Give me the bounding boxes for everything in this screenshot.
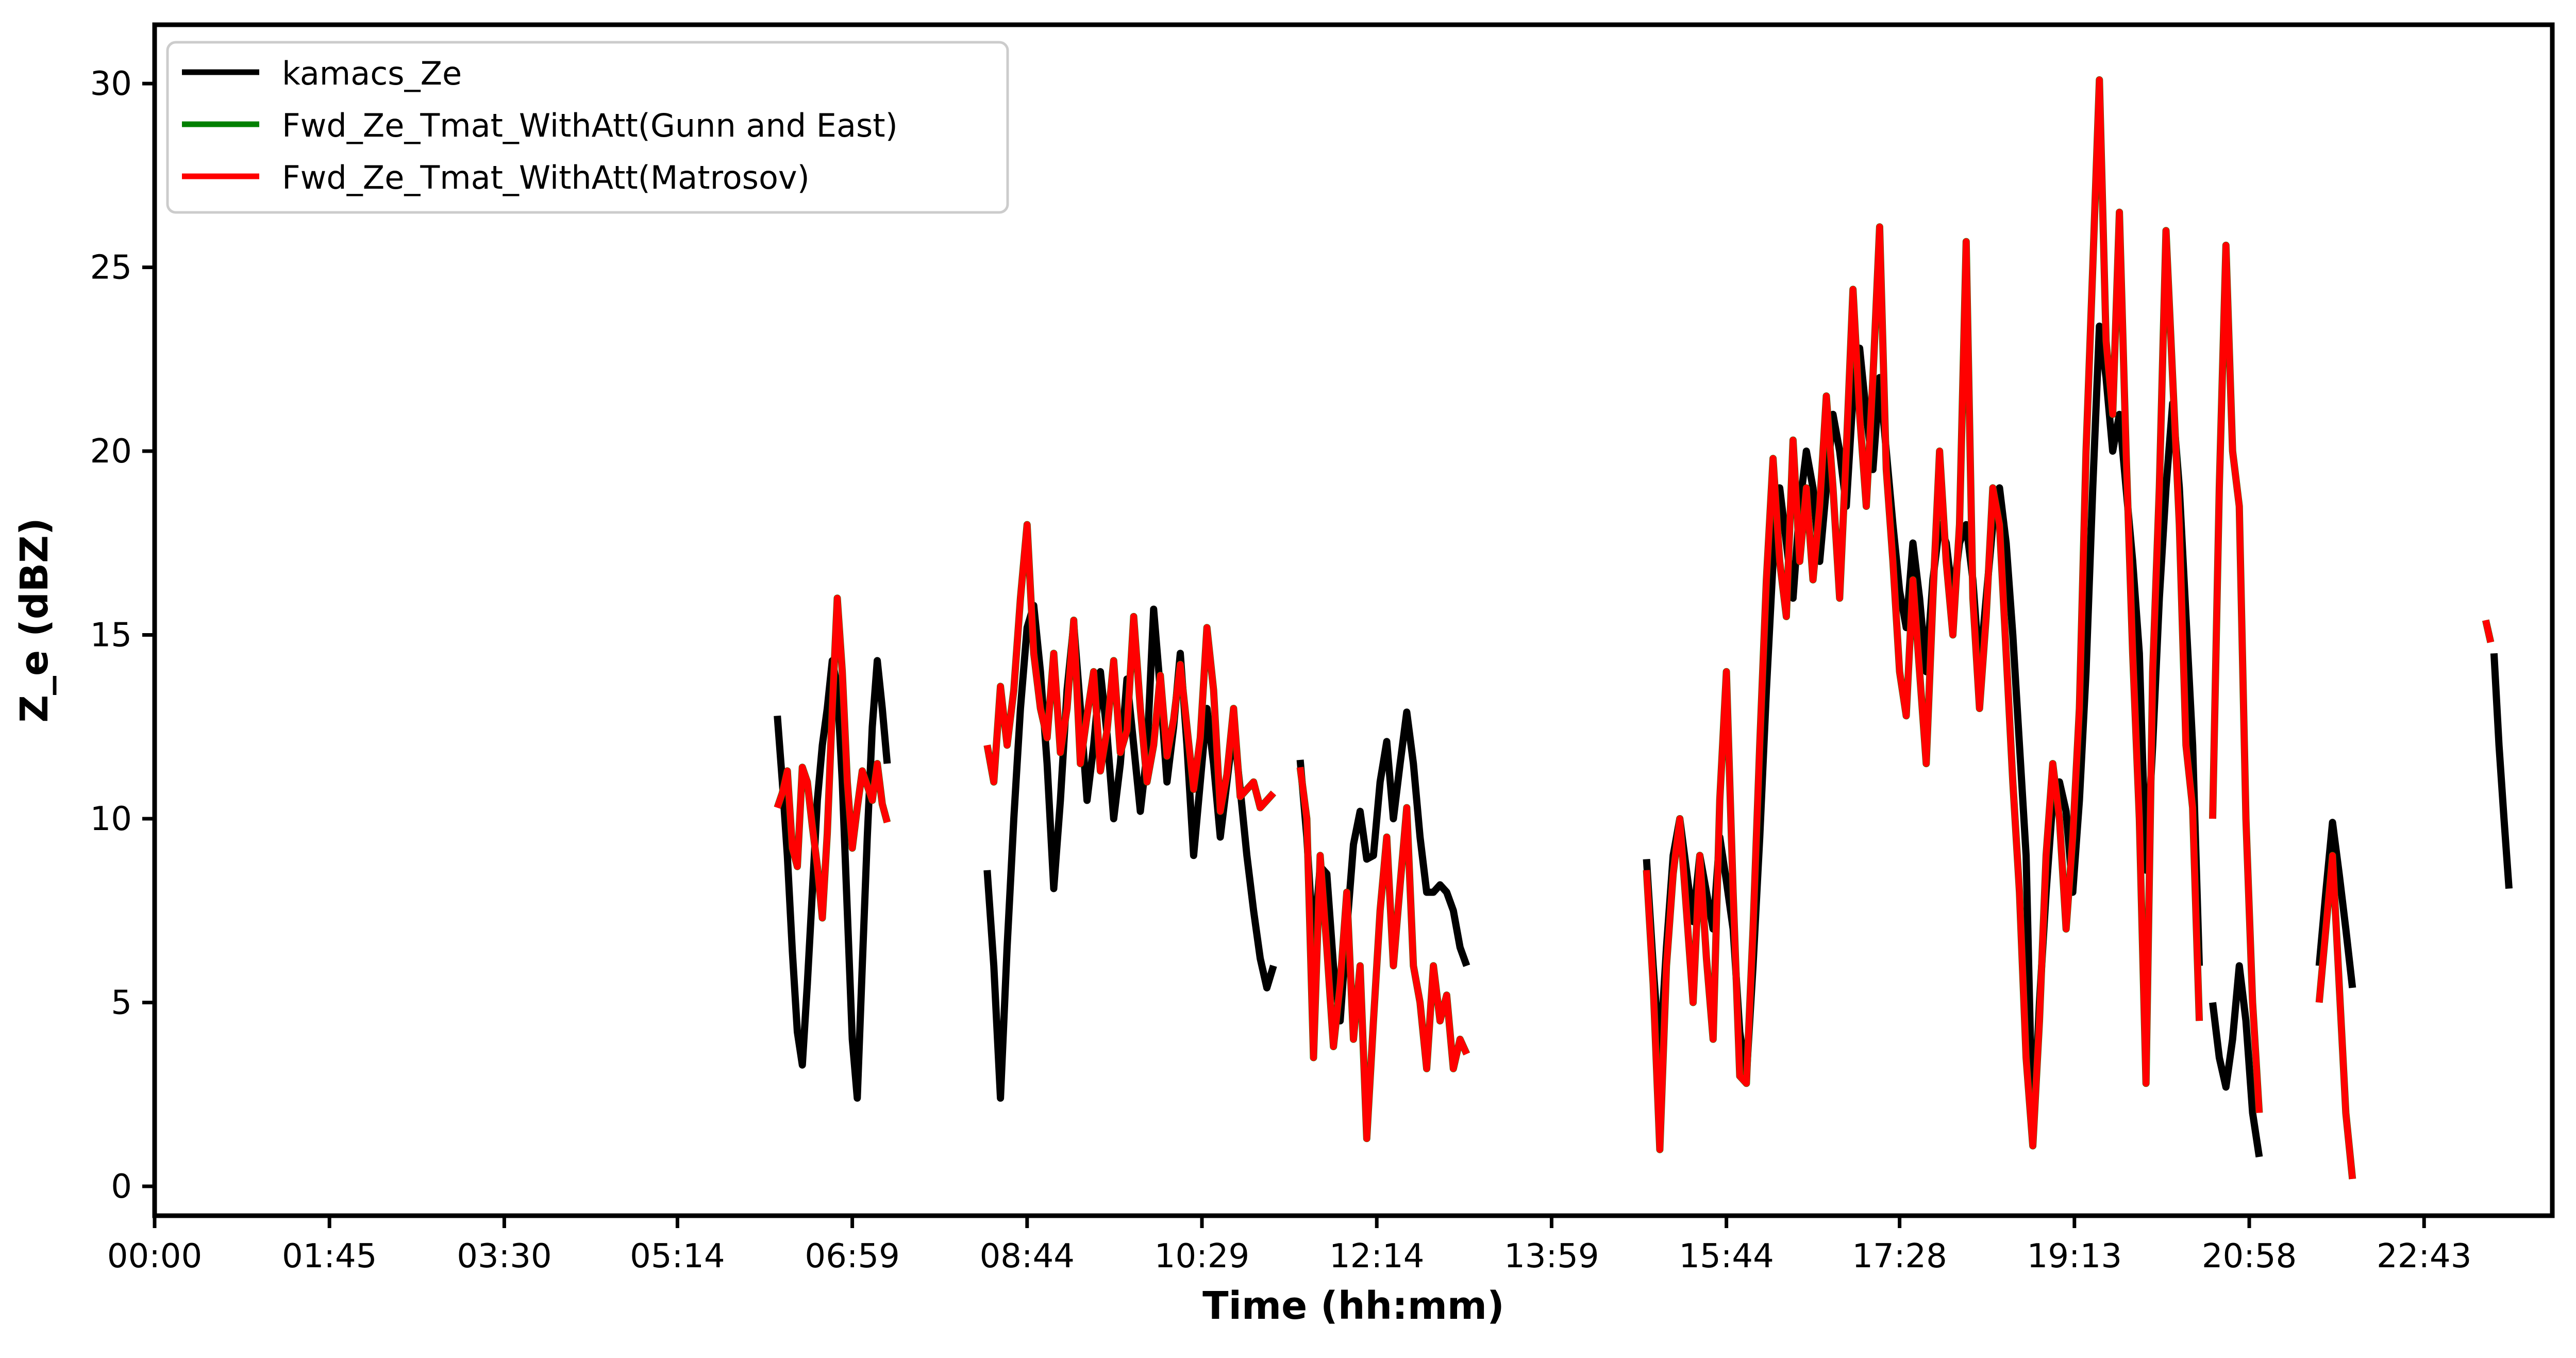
y-tick-label-6: 30: [90, 65, 132, 103]
series-2-segment-1: [987, 525, 1274, 812]
legend-label-0: kamacs_Ze: [282, 55, 462, 92]
x-tick-label-6: 10:29: [1155, 1237, 1249, 1276]
x-tick-label-12: 20:58: [2202, 1237, 2297, 1276]
x-tick-label-3: 05:14: [630, 1237, 725, 1276]
ticks-layer: 00:0001:4503:3005:1406:5908:4410:2912:14…: [90, 65, 2472, 1276]
x-tick-label-8: 13:59: [1504, 1237, 1599, 1276]
x-tick-label-10: 17:28: [1852, 1237, 1947, 1276]
x-tick-label-0: 00:00: [107, 1237, 202, 1276]
figure-canvas: 00:0001:4503:3005:1406:5908:4410:2912:14…: [0, 0, 2576, 1358]
line-chart[interactable]: 00:0001:4503:3005:1406:5908:4410:2912:14…: [0, 0, 2576, 1358]
x-tick-label-5: 08:44: [980, 1237, 1075, 1276]
y-tick-label-3: 15: [90, 617, 132, 655]
legend-item-1[interactable]: Fwd_Ze_Tmat_WithAtt(Gunn and East): [182, 107, 898, 144]
axis-titles-layer: Time (hh:mm)Z_e (dBZ): [12, 518, 1504, 1328]
series-2-segment-2: [1300, 767, 1467, 1138]
legend[interactable]: kamacs_ZeFwd_Ze_Tmat_WithAtt(Gunn and Ea…: [168, 42, 1008, 212]
series-layer: [777, 80, 2509, 1179]
x-tick-label-11: 19:13: [2027, 1237, 2122, 1276]
x-axis-title: Time (hh:mm): [1202, 1284, 1504, 1328]
x-tick-label-4: 06:59: [805, 1237, 899, 1276]
x-tick-label-2: 03:30: [457, 1237, 551, 1276]
series-0: [777, 326, 2509, 1157]
legend-label-2: Fwd_Ze_Tmat_WithAtt(Matrosov): [282, 159, 810, 196]
x-tick-label-1: 01:45: [282, 1237, 377, 1276]
y-tick-label-0: 0: [111, 1168, 132, 1206]
x-tick-label-7: 12:14: [1329, 1237, 1424, 1276]
y-tick-label-4: 20: [90, 433, 132, 471]
y-tick-label-1: 5: [111, 984, 132, 1022]
y-tick-label-5: 25: [90, 249, 132, 287]
legend-label-1: Fwd_Ze_Tmat_WithAtt(Gunn and East): [282, 107, 898, 144]
x-tick-label-9: 15:44: [1679, 1237, 1774, 1276]
y-axis-title: Z_e (dBZ): [12, 518, 57, 722]
y-tick-label-2: 10: [90, 800, 132, 838]
x-tick-label-13: 22:43: [2377, 1237, 2471, 1276]
series-0-segment-6: [2494, 653, 2509, 888]
